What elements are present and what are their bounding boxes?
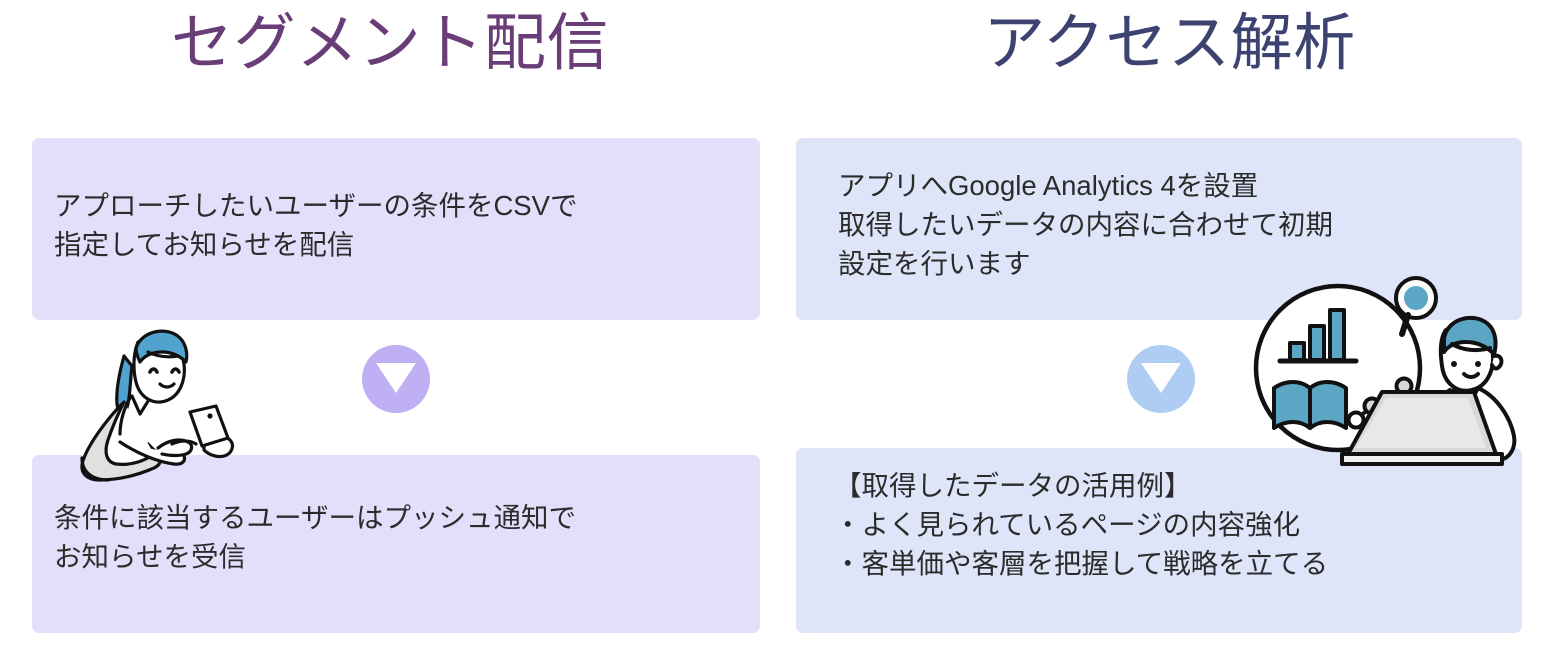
analytics-person-laptop-illustration [1238,268,1528,478]
chevron-down-icon [1141,363,1181,393]
step-card-analysis-2-text: 【取得したデータの活用例】 ・よく見られているページの内容強化 ・客単価や客層を… [834,466,1522,583]
down-arrow-badge-analysis [1127,345,1195,413]
chevron-down-icon [376,363,416,393]
open-book-icon [1274,382,1346,428]
woman-with-smartphone-illustration [62,322,262,494]
panel-segment-delivery: セグメント配信 アプローチしたいユーザーの条件をCSVで 指定してお知らせを配信… [0,0,780,654]
step-card-analysis-1-text: アプリへGoogle Analytics 4を設置 取得したいデータの内容に合わ… [838,166,1522,283]
panel-title-segment-delivery: セグメント配信 [0,8,780,79]
step-card-segment-1: アプローチしたいユーザーの条件をCSVで 指定してお知らせを配信 [32,138,760,320]
step-card-segment-1-text: アプローチしたいユーザーの条件をCSVで 指定してお知らせを配信 [54,186,760,264]
magnifier-icon [1396,278,1436,334]
down-arrow-badge-segment [362,345,430,413]
panel-title-access-analysis: アクセス解析 [780,8,1559,79]
step-card-segment-2-text: 条件に該当するユーザーはプッシュ通知で お知らせを受信 [54,498,760,576]
